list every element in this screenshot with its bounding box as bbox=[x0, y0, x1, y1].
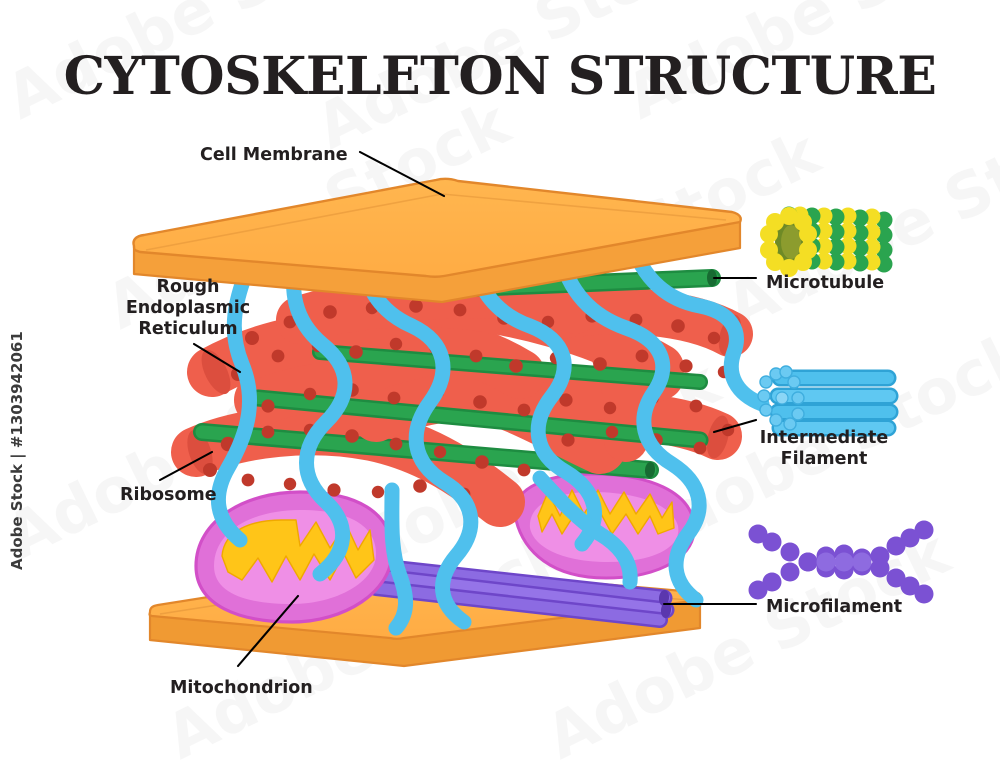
watermark-sidebar-text: Adobe Stock | #1303942061 bbox=[8, 331, 27, 570]
legend-microtubule-label: Microtubule bbox=[766, 273, 884, 293]
legend-microfilament-label: Microfilament bbox=[766, 597, 902, 617]
page-title: CYTOSKELETON STRUCTURE bbox=[64, 46, 937, 107]
label-mitochondrion-text: Mitochondrion bbox=[170, 678, 313, 698]
legend-if-label-line1: Intermediate bbox=[760, 428, 889, 448]
label-cell-membrane-text: Cell Membrane bbox=[200, 145, 348, 165]
watermark-sidebar: Adobe Stock | #1303942061 bbox=[8, 331, 27, 570]
label-rough-er-line3: Reticulum bbox=[138, 319, 237, 339]
label-rough-er-line1: Rough bbox=[157, 277, 220, 297]
label-rough-er-line2: Endoplasmic bbox=[126, 298, 250, 318]
microtubule-icon bbox=[760, 207, 893, 278]
intermediate-filament-icon bbox=[758, 366, 890, 430]
legend-if-label-line2: Filament bbox=[781, 449, 868, 469]
label-ribosome-text: Ribosome bbox=[120, 485, 217, 505]
diagram-canvas: Adobe Stock Adobe Stock Adobe Stock Adob… bbox=[0, 0, 1000, 769]
